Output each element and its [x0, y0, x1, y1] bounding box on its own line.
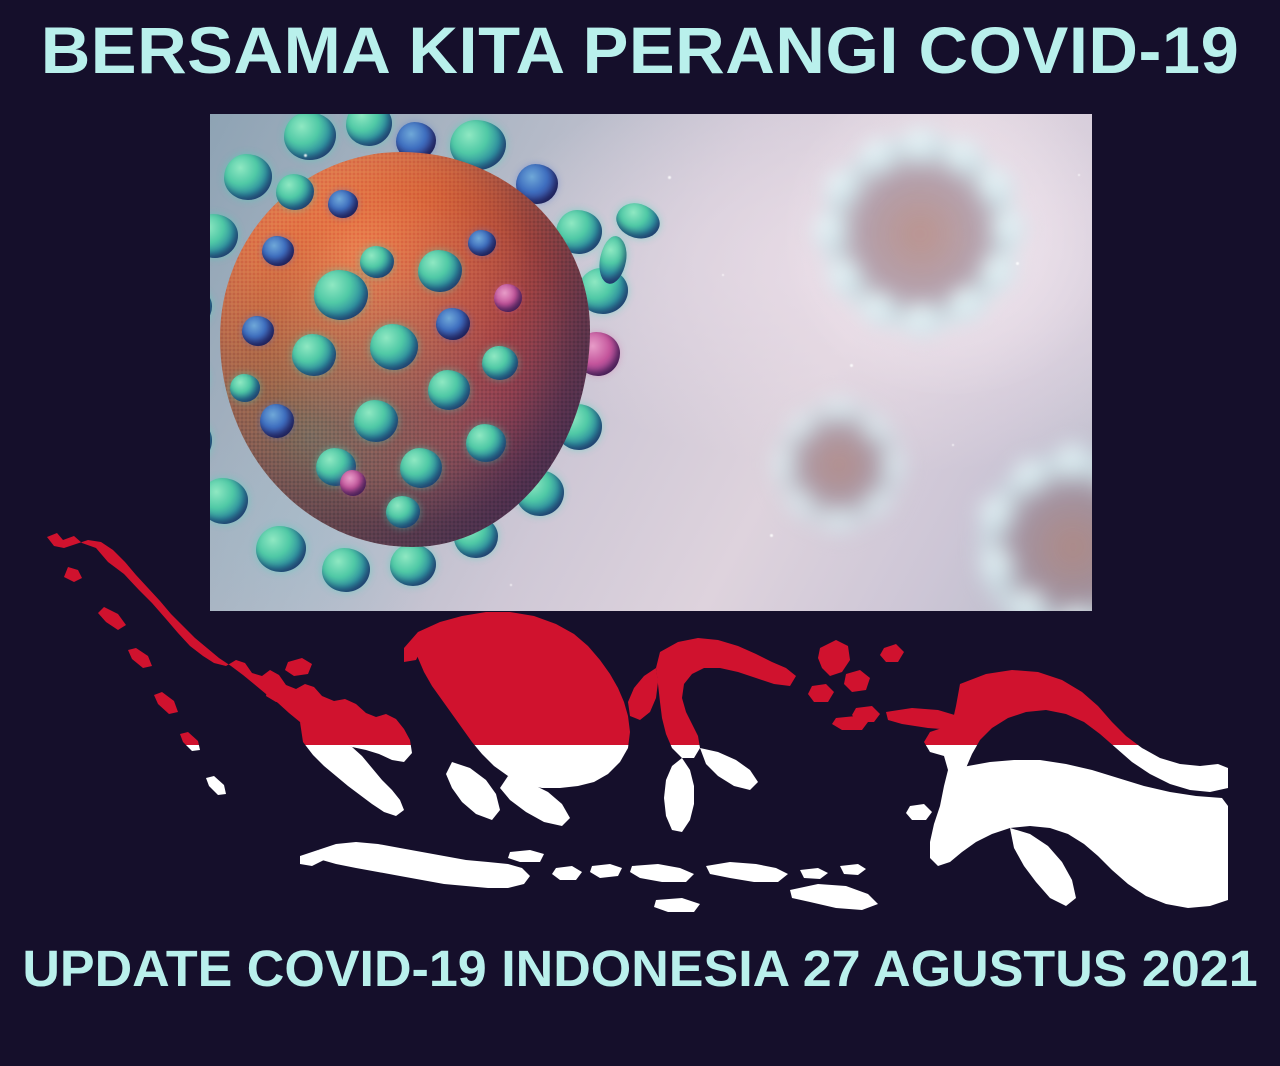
footer-caption: UPDATE COVID-19 INDONESIA 27 AGUSTUS 202…	[0, 942, 1280, 996]
photo-alt-text: Close-up 3D rendering of a SARS-CoV-2 co…	[0, 0, 1, 1]
dust-speck	[1016, 262, 1019, 265]
dust-speck	[668, 176, 671, 179]
map-alt-text: Silhouette map of Indonesia filled with …	[0, 0, 1, 1]
dust-speck	[952, 444, 954, 446]
dust-speck	[1078, 174, 1080, 176]
dust-speck	[850, 364, 853, 367]
dust-speck	[304, 154, 307, 157]
poster-canvas: BERSAMA KITA PERANGI COVID-19	[0, 0, 1280, 1066]
dust-speck	[722, 274, 724, 276]
background-virion	[820, 134, 1020, 334]
flag-white-band	[0, 745, 1280, 970]
page-title: BERSAMA KITA PERANGI COVID-19	[0, 16, 1280, 85]
flag-red-band	[0, 470, 1280, 745]
indonesia-map-svg	[0, 470, 1280, 970]
map-flag-fill	[0, 470, 1280, 970]
indonesia-map	[0, 470, 1280, 970]
